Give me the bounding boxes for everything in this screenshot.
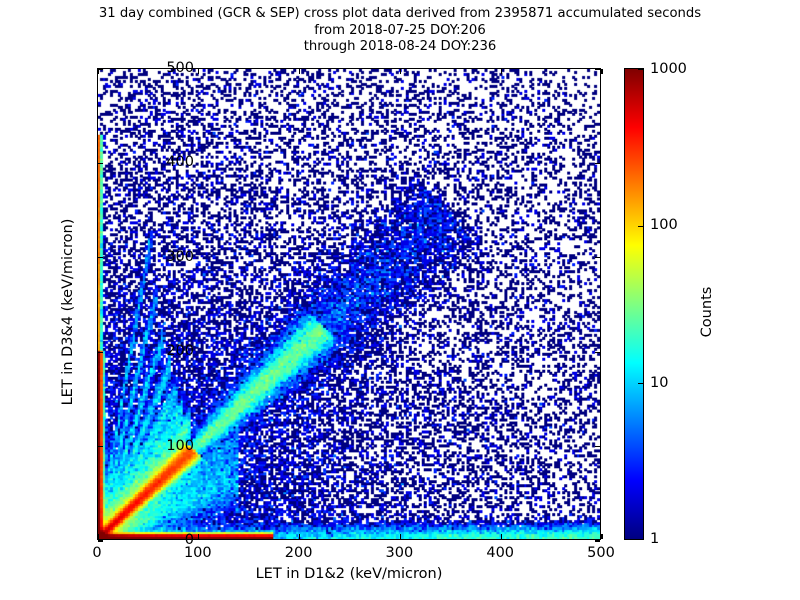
y-tick [595,257,600,258]
x-tick [299,69,300,74]
y-axis-tick-label: 200 [166,343,194,359]
x-axis-tick-label: 300 [386,545,414,561]
y-axis-tick-label: 300 [166,249,194,265]
plot-axes [97,68,601,540]
colorbar-gradient [625,69,643,539]
colorbar-tick-label: 100 [650,217,678,233]
colorbar-tick [638,226,643,227]
y-tick [595,540,600,541]
y-tick [98,68,103,69]
figure: 31 day combined (GCR & SEP) cross plot d… [0,0,800,600]
colorbar-tick-label: 10 [650,375,668,391]
x-tick [400,69,401,74]
colorbar-title: Counts [699,242,715,382]
y-tick [595,163,600,164]
y-tick [98,540,103,541]
x-tick [501,69,502,74]
y-axis-title: LET in D3&4 (keV/micron) [60,182,76,442]
heatmap-canvas [98,69,600,539]
y-axis-tick-label: 500 [166,60,194,76]
y-tick [98,163,103,164]
colorbar [624,68,644,540]
x-axis-tick-label: 200 [285,545,313,561]
x-tick [601,69,602,74]
y-tick [595,446,600,447]
figure-title-line-3: through 2018-08-24 DOY:236 [0,39,800,56]
figure-title-line-1: 31 day combined (GCR & SEP) cross plot d… [0,6,800,23]
x-axis-tick-label: 100 [184,545,212,561]
x-axis-tick-label: 500 [587,545,615,561]
y-axis-tick-label: 400 [166,154,194,170]
x-tick [299,534,300,539]
x-tick [601,534,602,539]
x-axis-tick-label: 0 [92,545,101,561]
x-tick [198,69,199,74]
colorbar-tick [638,383,643,384]
colorbar-tick-label: 1 [650,531,659,547]
x-tick [97,534,98,539]
colorbar-tick [638,68,643,69]
y-tick [98,352,103,353]
y-tick [98,257,103,258]
x-tick [198,534,199,539]
y-axis-tick-label: 100 [166,438,194,454]
x-axis-title: LET in D1&2 (keV/micron) [97,566,601,582]
figure-title-line-2: from 2018-07-25 DOY:206 [0,23,800,40]
x-tick [97,69,98,74]
y-tick [595,68,600,69]
colorbar-tick-label: 1000 [650,61,687,77]
y-tick [98,446,103,447]
y-tick [595,352,600,353]
figure-title: 31 day combined (GCR & SEP) cross plot d… [0,6,800,56]
x-tick [501,534,502,539]
x-axis-tick-label: 400 [486,545,514,561]
x-tick [400,534,401,539]
